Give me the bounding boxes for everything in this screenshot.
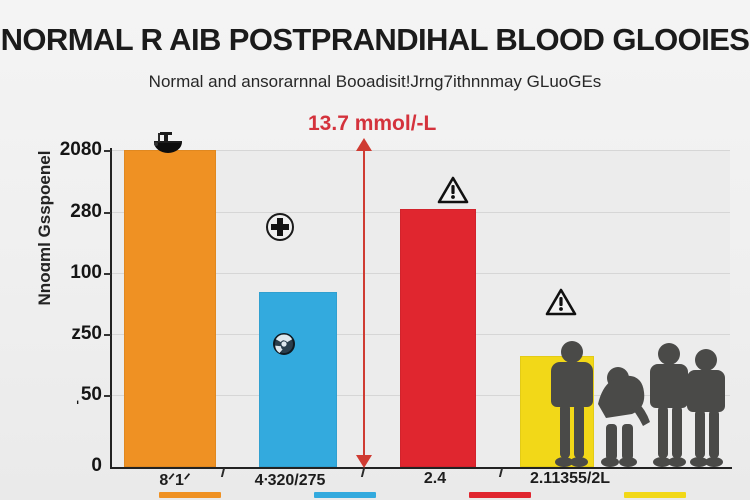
y-tick-label: ᴢ50	[12, 323, 102, 345]
y-tick-label: ˌ50	[12, 384, 102, 406]
legend-item[interactable]	[267, 492, 422, 500]
y-tick-mark	[104, 273, 111, 275]
x-label-1: 4ᐧ320/275	[215, 470, 365, 490]
range-arrow-line	[363, 146, 365, 465]
legend-swatch-blue	[314, 492, 376, 498]
page-subtitle: Normal and ansorarnnal Booadisit!Jrng7it…	[0, 72, 750, 92]
y-axis-title: Nnoɑml Gsspoenel	[35, 123, 55, 333]
toilet-icon	[146, 130, 190, 161]
warning-triangle-icon	[545, 288, 577, 321]
medical-cross-icon	[265, 212, 295, 247]
legend-item[interactable]	[422, 492, 577, 500]
value-callout: 13.7 mmol/-L	[308, 112, 436, 136]
chart-page: NORMAL R AIB POSTPRANDIHAL BLOOD GLOOIES…	[0, 0, 750, 500]
bar-orange[interactable]	[124, 150, 216, 467]
biohazard-icon	[272, 332, 296, 361]
y-tick-mark	[104, 212, 111, 214]
legend-swatch-red	[469, 492, 531, 498]
y-tick-label: 0	[12, 455, 102, 477]
legend	[112, 492, 732, 500]
page-title: NORMAL R AIB POSTPRANDIHAL BLOOD GLOOIES	[0, 22, 750, 58]
bar-red[interactable]	[400, 209, 476, 467]
legend-swatch-orange	[159, 492, 221, 498]
legend-item[interactable]	[577, 492, 732, 500]
legend-swatch-yellow	[624, 492, 686, 498]
x-label-2: 2.4	[360, 470, 510, 488]
bar-blue[interactable]	[259, 292, 337, 467]
y-tick-mark	[104, 334, 111, 336]
warning-triangle-icon	[437, 176, 469, 209]
y-tick-label: 2080	[12, 139, 102, 161]
range-arrow-head-up	[356, 138, 372, 151]
legend-item[interactable]	[112, 492, 267, 500]
y-tick-label: 280	[12, 201, 102, 223]
range-arrow-head-down	[356, 455, 372, 468]
people-silhouette-icon	[540, 338, 730, 473]
y-tick-mark	[104, 395, 111, 397]
y-tick-label: 100	[12, 262, 102, 284]
y-axis-line	[110, 148, 112, 469]
y-tick-mark	[104, 150, 111, 152]
